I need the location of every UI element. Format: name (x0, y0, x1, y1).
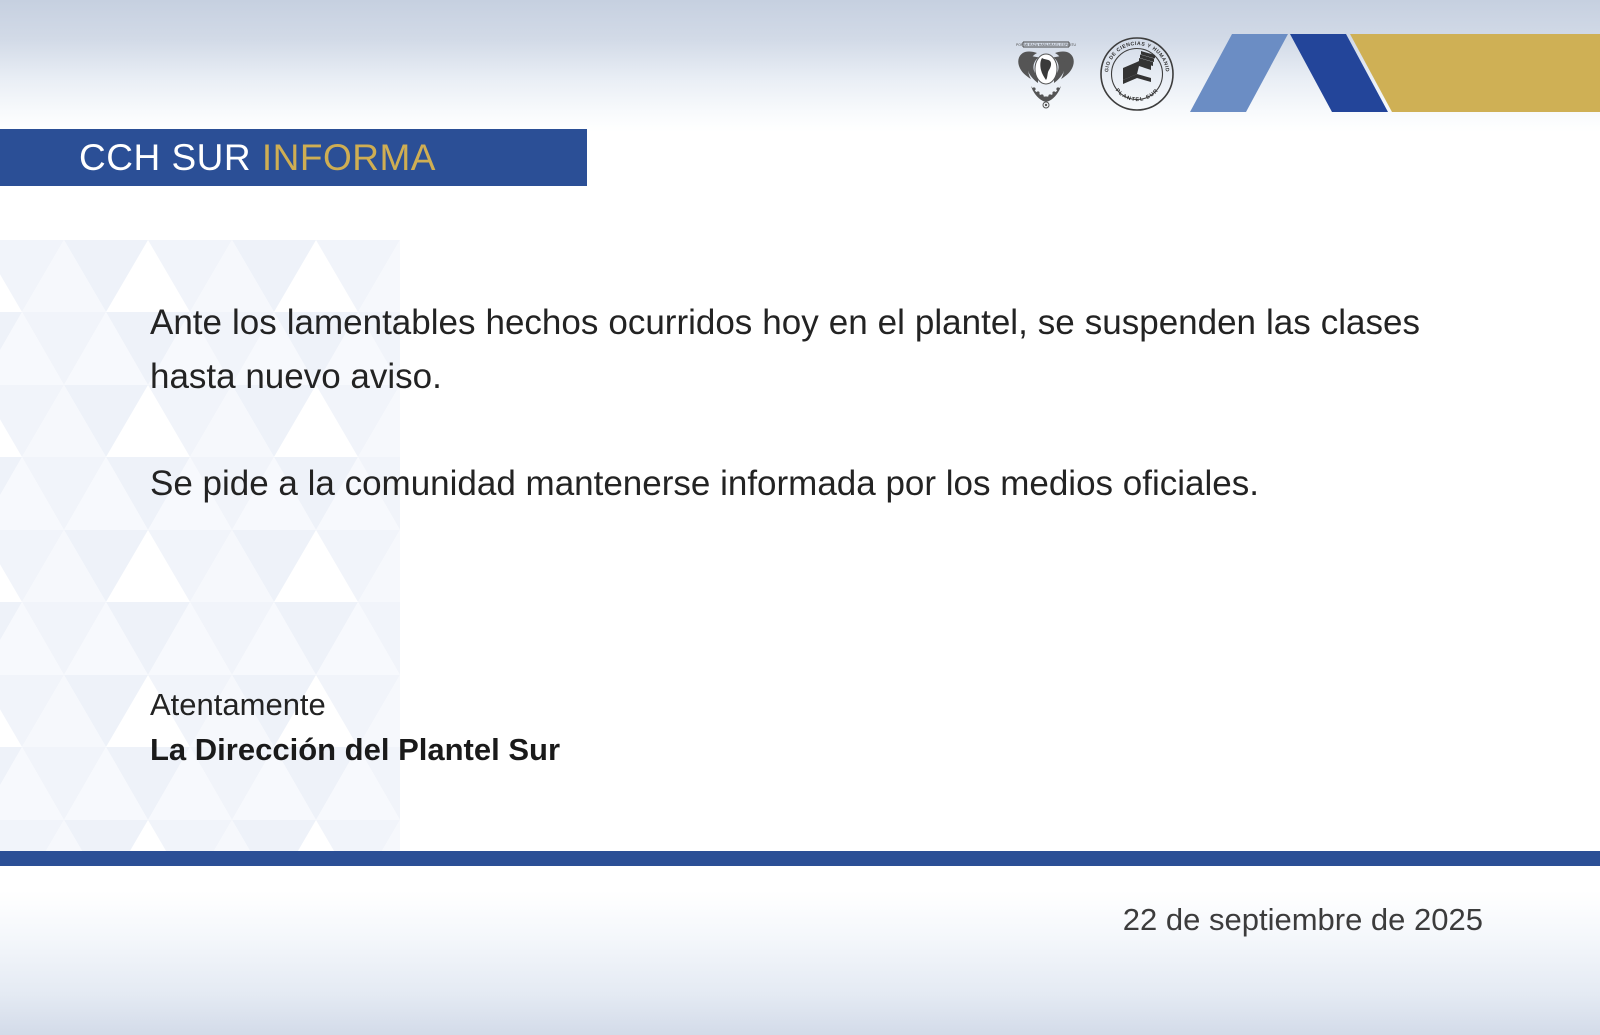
institutional-logos: POR MI RAZA HABLARA EL ESPIRITU (1015, 34, 1175, 114)
gold-band-shape (1350, 34, 1600, 112)
paragraph-2: Se pide a la comunidad mantenerse inform… (150, 457, 1420, 511)
banner-title-primary: CCH SUR (79, 137, 251, 178)
signature-signer: La Dirección del Plantel Sur (150, 726, 560, 774)
svg-text:POR MI RAZA HABLARA EL ESPIRIT: POR MI RAZA HABLARA EL ESPIRITU (1016, 43, 1077, 47)
announcement-body: Ante los lamentables hechos ocurridos ho… (150, 296, 1420, 511)
banner-title: CCH SUR INFORMA (79, 137, 436, 179)
paragraph-1: Ante los lamentables hechos ocurridos ho… (150, 296, 1420, 405)
unam-shield-logo: POR MI RAZA HABLARA EL ESPIRITU (1015, 36, 1077, 112)
svg-text:PLANTEL SUR: PLANTEL SUR (1114, 88, 1160, 103)
announcement-slide: POR MI RAZA HABLARA EL ESPIRITU (0, 0, 1600, 1035)
banner-title-accent: INFORMA (262, 137, 436, 178)
cch-plantel-sur-logo: COLEGIO DE CIENCIAS Y HUMANIDADES PLANTE… (1099, 36, 1175, 112)
signature-block: Atentamente La Dirección del Plantel Sur (150, 684, 560, 774)
footer-date: 22 de septiembre de 2025 (1123, 902, 1483, 938)
footer-divider-bar (0, 851, 1600, 866)
bottom-gradient-background (0, 850, 1600, 1035)
header-banner: CCH SUR INFORMA (0, 129, 587, 186)
signature-closing: Atentamente (150, 684, 560, 726)
chevron-light-shape (1190, 34, 1288, 112)
chevron-decoration (1190, 34, 1600, 112)
